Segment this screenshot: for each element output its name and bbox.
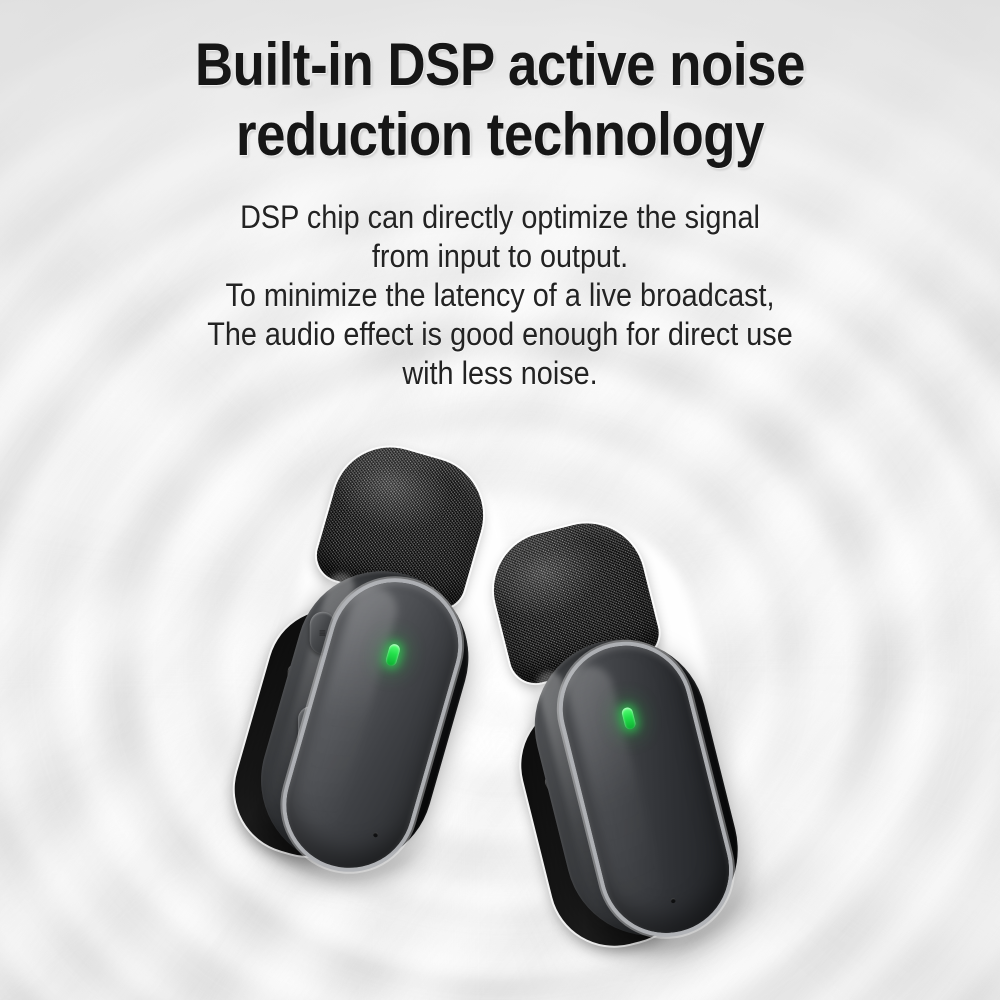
subcopy-line-3: To minimize the latency of a live broadc… (50, 276, 950, 315)
subcopy-line-2: from input to output. (50, 237, 950, 276)
subcopy-line-4: The audio effect is good enough for dire… (50, 315, 950, 354)
headline-line-2: reduction technology (60, 100, 940, 170)
subcopy-line-1: DSP chip can directly optimize the signa… (50, 198, 950, 237)
subcopy: DSP chip can directly optimize the signa… (50, 170, 950, 393)
product-banner: Built-in DSP active noise reduction tech… (0, 0, 1000, 1000)
headline: Built-in DSP active noise reduction tech… (60, 0, 940, 170)
mic-pinhole (373, 832, 379, 838)
mic-pinhole (670, 898, 676, 904)
subcopy-line-5: with less noise. (50, 354, 950, 393)
headline-line-1: Built-in DSP active noise (60, 30, 940, 100)
copy-block: Built-in DSP active noise reduction tech… (0, 0, 1000, 393)
